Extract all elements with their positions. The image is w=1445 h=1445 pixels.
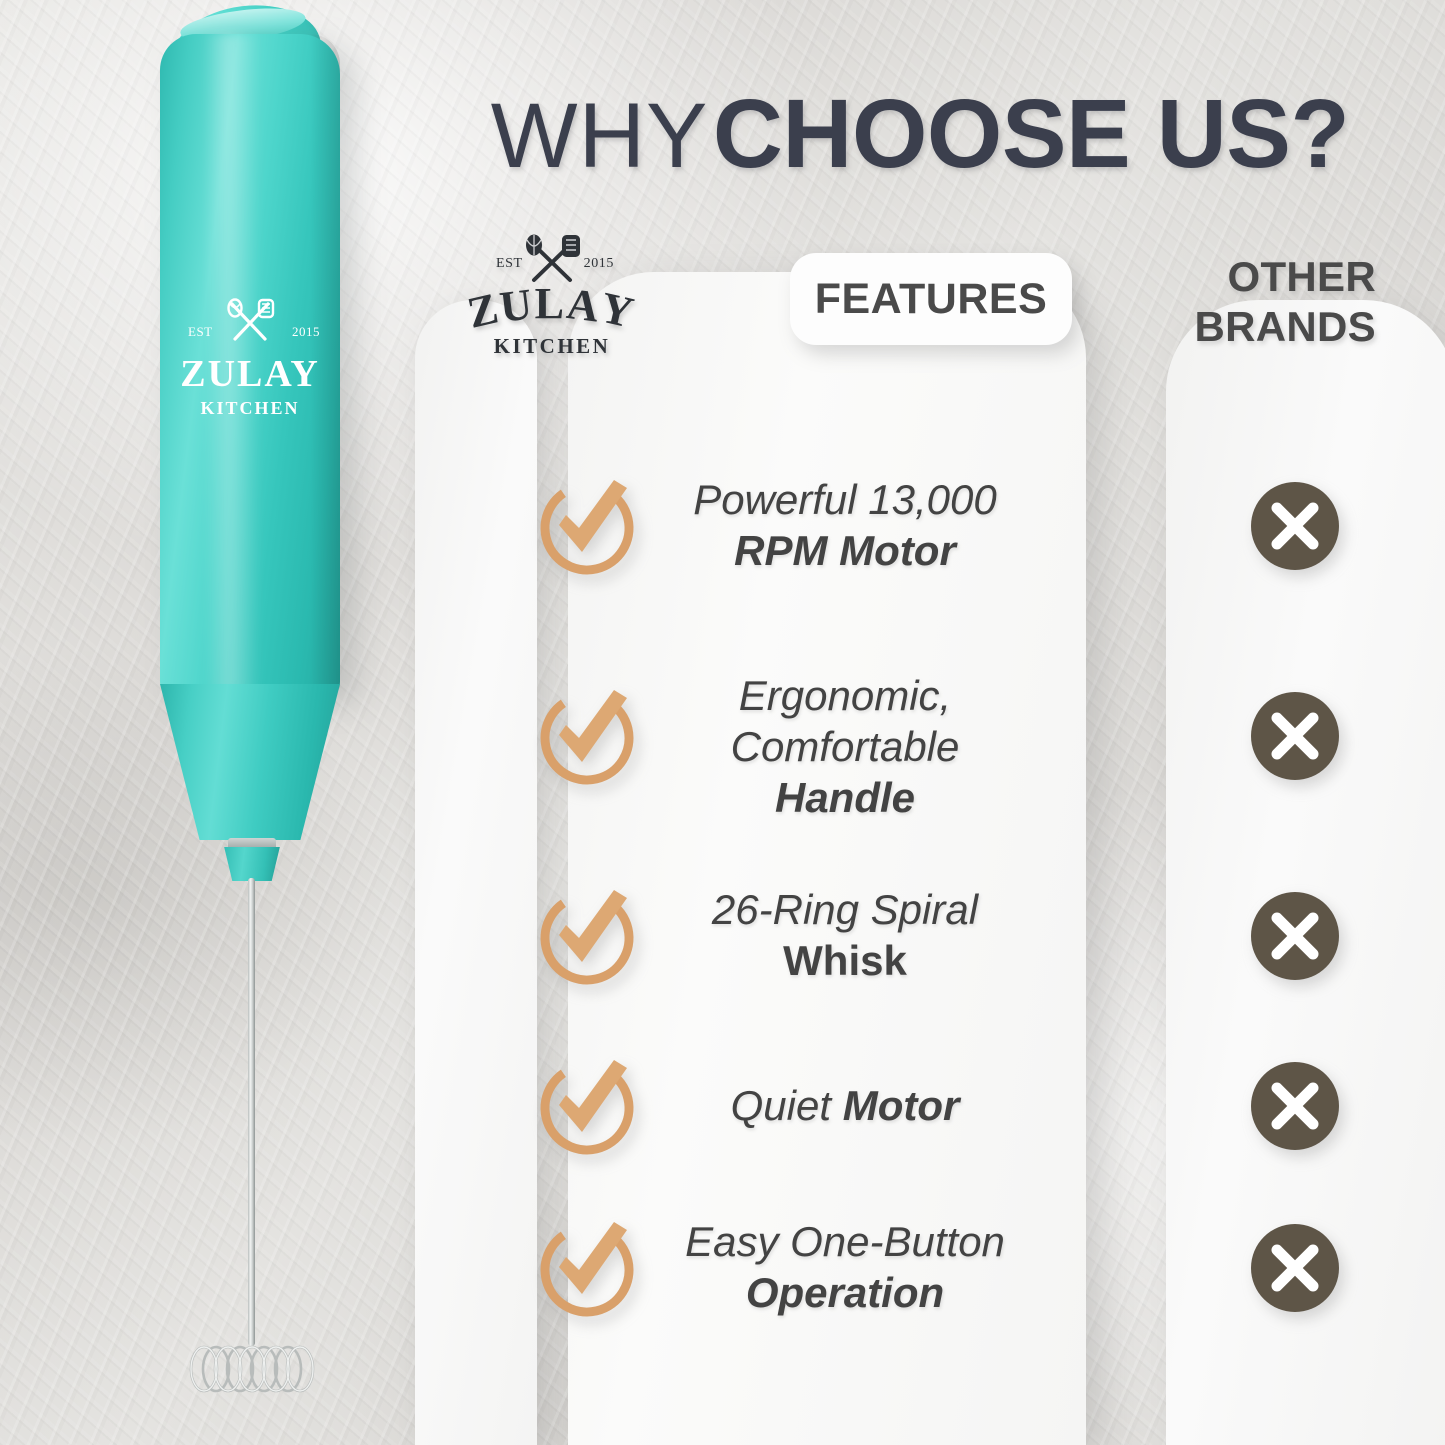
feature-line: Quiet Motor	[595, 1080, 1095, 1131]
column-zulay	[415, 300, 537, 1445]
logo-subtitle: KITCHEN	[462, 334, 642, 359]
other-brands-line1: OTHER	[1140, 252, 1376, 302]
logo-est-label: EST	[496, 256, 523, 272]
logo-year: 2015	[584, 256, 614, 272]
feature-text: Easy One-Button Operation	[595, 1216, 1095, 1318]
product-whisk-shaft	[248, 878, 255, 1346]
product-handle-logo: EST 2015 ZULAY KITCHEN	[172, 300, 328, 430]
feature-text: 26-Ring Spiral Whisk	[595, 884, 1095, 986]
feature-line-bold: Operation	[595, 1267, 1095, 1318]
zulay-kitchen-logo: EST 2015 ZULAY KITCHEN	[462, 236, 642, 362]
x-circle-icon	[1247, 1058, 1343, 1154]
feature-line: 26-Ring Spiral	[595, 884, 1095, 935]
product-logo-subtitle: KITCHEN	[172, 398, 328, 419]
feature-text: Quiet Motor	[595, 1080, 1095, 1131]
feature-line-bold: Whisk	[595, 935, 1095, 986]
feature-line: Easy One-Button	[595, 1216, 1095, 1267]
product-logo-est: EST	[188, 324, 213, 340]
x-circle-icon	[1247, 1220, 1343, 1316]
x-circle-icon	[1247, 478, 1343, 574]
feature-word-bold: Motor	[843, 1082, 960, 1129]
page-title: WHY CHOOSE US?	[440, 78, 1400, 190]
feature-line-bold: RPM Motor	[595, 525, 1095, 576]
other-brands-header: OTHER BRANDS	[1140, 252, 1376, 352]
whisk-spatula-icon	[515, 232, 589, 284]
product-logo-brand: ZULAY	[172, 352, 328, 396]
feature-line: Comfortable	[595, 721, 1095, 772]
x-circle-icon	[1247, 688, 1343, 784]
feature-text: Powerful 13,000 RPM Motor	[595, 474, 1095, 576]
product-shaft-nut	[223, 847, 281, 881]
whisk-spatula-icon	[221, 298, 279, 344]
features-header-pill: FEATURES	[790, 253, 1072, 345]
features-header-label: FEATURES	[815, 275, 1048, 324]
spiral-whisk-head-icon	[160, 1330, 350, 1408]
x-circle-icon	[1247, 888, 1343, 984]
page-title-light: WHY	[491, 85, 709, 187]
logo-letter-l: L	[535, 282, 567, 326]
logo-letter-u: U	[497, 282, 537, 330]
feature-text: Ergonomic, Comfortable Handle	[595, 670, 1095, 823]
feature-line: Ergonomic,	[595, 670, 1095, 721]
product-cone-base	[160, 684, 340, 840]
other-brands-line2: BRANDS	[1140, 302, 1376, 352]
logo-brand-name: ZULAY	[462, 284, 642, 328]
logo-utensils	[462, 236, 642, 282]
feature-word-regular: Quiet	[731, 1082, 843, 1129]
product-image-milk-frother: EST 2015 ZULAY KITCHEN	[148, 0, 378, 1445]
page-title-heavy: CHOOSE US?	[713, 79, 1349, 188]
product-logo-year: 2015	[292, 324, 320, 340]
feature-line-bold: Handle	[595, 772, 1095, 823]
feature-line: Powerful 13,000	[595, 474, 1095, 525]
